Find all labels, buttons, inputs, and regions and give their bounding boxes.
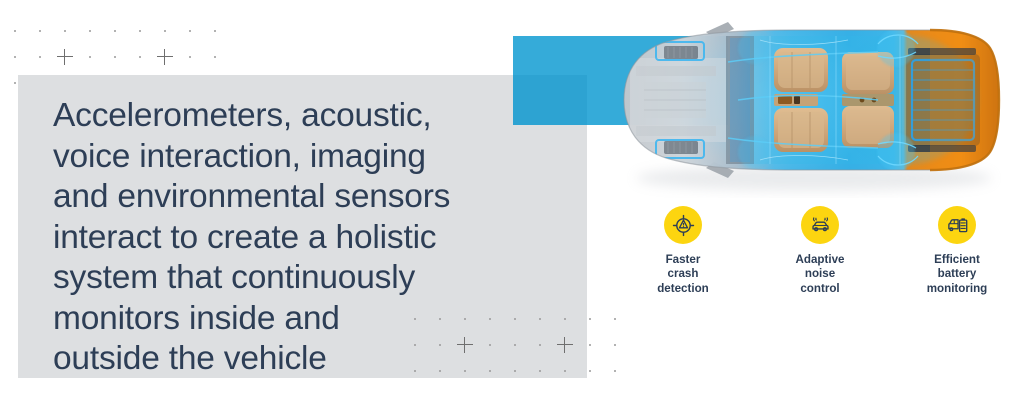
decorative-plus-mark [57,49,73,65]
feature-label: Efficient battery monitoring [927,253,988,296]
decorative-dot [614,318,616,320]
decorative-dot [214,30,216,32]
decorative-dot [89,56,91,58]
decorative-dot [39,30,41,32]
decorative-dot [14,82,16,84]
decorative-dot [14,30,16,32]
decorative-dot [189,30,191,32]
decorative-dot [114,30,116,32]
decorative-dot [89,30,91,32]
blue-accent-overlap-shade [513,75,587,125]
decorative-plus-mark [157,49,173,65]
feature-label: Adaptive noise control [796,253,845,296]
feature-item-battery-monitoring[interactable]: Efficient battery monitoring [898,206,1016,296]
vehicle-xray-image [578,2,1014,198]
feature-item-noise-control[interactable]: Adaptive noise control [761,206,879,296]
slide-canvas: Accelerometers, acoustic, voice interact… [0,0,1024,409]
decorative-dot [614,370,616,372]
decorative-dot [589,344,591,346]
decorative-dot [39,56,41,58]
decorative-dot [589,318,591,320]
decorative-dot [64,30,66,32]
decorative-dot [189,56,191,58]
decorative-dot [614,344,616,346]
headline-text: Accelerometers, acoustic, voice interact… [53,96,523,380]
decorative-dot [139,30,141,32]
decorative-dot [114,56,116,58]
crash-detection-icon [664,206,702,244]
feature-label: Faster crash detection [657,253,709,296]
decorative-dot [164,30,166,32]
feature-item-crash-detection[interactable]: Faster crash detection [624,206,742,296]
noise-control-icon [801,206,839,244]
decorative-dot [14,56,16,58]
feature-list: Faster crash detection Adaptive n [624,206,1016,306]
decorative-dot [589,370,591,372]
decorative-dot [214,56,216,58]
decorative-dot [139,56,141,58]
battery-monitoring-icon [938,206,976,244]
